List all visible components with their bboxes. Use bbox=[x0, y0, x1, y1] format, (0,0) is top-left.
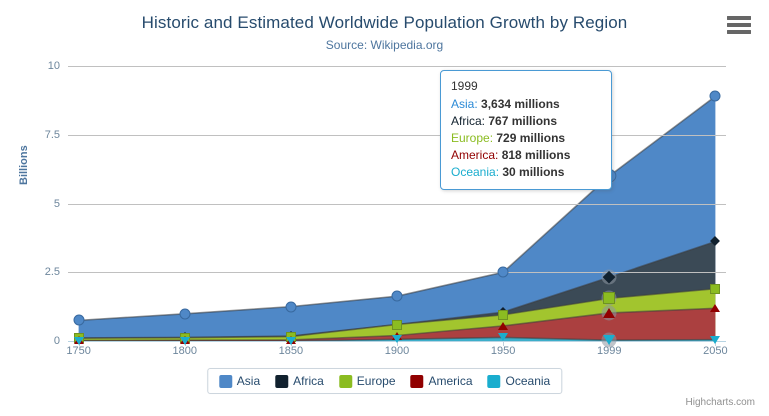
y-axis-title: Billions bbox=[18, 145, 30, 185]
legend-swatch-africa bbox=[275, 375, 288, 388]
chart-subtitle: Source: Wikipedia.org bbox=[0, 38, 769, 52]
hamburger-bar bbox=[727, 23, 751, 27]
x-axis-tick-label[interactable]: 1800 bbox=[172, 345, 196, 357]
y-axis-tick-label: 0 bbox=[26, 335, 60, 347]
legend-swatch-europe bbox=[339, 375, 352, 388]
x-axis-tick-label[interactable]: 1750 bbox=[66, 345, 90, 357]
hamburger-bar bbox=[727, 30, 751, 34]
data-point-europe-1950[interactable] bbox=[498, 310, 508, 320]
y-axis-tick-label: 5 bbox=[26, 198, 60, 210]
data-point-america-1950[interactable] bbox=[498, 322, 508, 330]
tooltip-row-asia: Asia: 3,634 millions bbox=[451, 96, 602, 113]
tooltip-series-name: Africa: bbox=[451, 114, 488, 128]
y-axis-tick-label: 10 bbox=[26, 60, 60, 72]
y-axis-tick-label: 7.5 bbox=[26, 129, 60, 141]
highcharts-container: Historic and Estimated Worldwide Populat… bbox=[0, 0, 769, 416]
chart-title: Historic and Estimated Worldwide Populat… bbox=[0, 13, 769, 33]
legend-swatch-america bbox=[411, 375, 424, 388]
data-point-asia-2050[interactable] bbox=[710, 91, 721, 102]
legend-label: Oceania bbox=[506, 374, 551, 388]
legend-label: Africa bbox=[293, 374, 324, 388]
data-point-oceania-1900[interactable] bbox=[392, 335, 402, 343]
y-gridline bbox=[68, 204, 726, 205]
tooltip-series-name: America: bbox=[451, 148, 502, 162]
y-axis-tick-label: 2.5 bbox=[26, 266, 60, 278]
legend-swatch-asia bbox=[219, 375, 232, 388]
data-point-asia-1750[interactable] bbox=[73, 315, 84, 326]
tooltip-series-value: 729 millions bbox=[496, 131, 565, 145]
legend-item-america[interactable]: America bbox=[411, 374, 473, 388]
y-gridline bbox=[68, 66, 726, 67]
data-point-america-1999[interactable] bbox=[603, 308, 615, 318]
legend-item-oceania[interactable]: Oceania bbox=[488, 374, 551, 388]
data-point-oceania-1800[interactable] bbox=[180, 337, 190, 345]
data-point-oceania-2050[interactable] bbox=[710, 336, 720, 344]
tooltip-series-name: Europe: bbox=[451, 131, 496, 145]
x-axis-tick-label[interactable]: 1900 bbox=[385, 345, 409, 357]
hamburger-menu-icon[interactable] bbox=[727, 16, 751, 34]
data-point-asia-1950[interactable] bbox=[498, 267, 509, 278]
chart-legend[interactable]: AsiaAfricaEuropeAmericaOceania bbox=[207, 368, 562, 394]
y-gridline bbox=[68, 135, 726, 136]
data-point-asia-1800[interactable] bbox=[179, 308, 190, 319]
tooltip-row-oceania: Oceania: 30 millions bbox=[451, 164, 602, 181]
x-axis-tick-label[interactable]: 1950 bbox=[491, 345, 515, 357]
legend-swatch-oceania bbox=[488, 375, 501, 388]
data-point-oceania-1999[interactable] bbox=[603, 335, 615, 345]
tooltip-row-africa: Africa: 767 millions bbox=[451, 113, 602, 130]
data-point-europe-1999[interactable] bbox=[603, 292, 615, 304]
data-point-europe-1900[interactable] bbox=[392, 320, 402, 330]
y-gridline bbox=[68, 272, 726, 273]
data-point-europe-2050[interactable] bbox=[710, 284, 720, 294]
tooltip-series-value: 818 millions bbox=[502, 148, 571, 162]
legend-label: Europe bbox=[357, 374, 396, 388]
data-point-asia-1850[interactable] bbox=[285, 301, 296, 312]
legend-item-asia[interactable]: Asia bbox=[219, 374, 260, 388]
tooltip-series-name: Oceania: bbox=[451, 165, 502, 179]
tooltip-series-value: 767 millions bbox=[488, 114, 557, 128]
data-point-oceania-1750[interactable] bbox=[74, 337, 84, 345]
tooltip-header: 1999 bbox=[451, 78, 602, 95]
data-point-oceania-1950[interactable] bbox=[498, 333, 508, 341]
tooltip-row-europe: Europe: 729 millions bbox=[451, 130, 602, 147]
tooltip-series-value: 3,634 millions bbox=[481, 97, 560, 111]
hamburger-bar bbox=[727, 16, 751, 20]
data-point-america-2050[interactable] bbox=[710, 304, 720, 312]
legend-item-africa[interactable]: Africa bbox=[275, 374, 324, 388]
x-axis-tick-label[interactable]: 1850 bbox=[279, 345, 303, 357]
tooltip-row-america: America: 818 millions bbox=[451, 147, 602, 164]
data-point-asia-1900[interactable] bbox=[392, 291, 403, 302]
tooltip-series-value: 30 millions bbox=[502, 165, 564, 179]
legend-item-europe[interactable]: Europe bbox=[339, 374, 396, 388]
legend-label: America bbox=[429, 374, 473, 388]
series-tooltip: 1999 Asia: 3,634 millionsAfrica: 767 mil… bbox=[440, 70, 612, 190]
tooltip-series-name: Asia: bbox=[451, 97, 481, 111]
legend-label: Asia bbox=[237, 374, 260, 388]
highcharts-credit[interactable]: Highcharts.com bbox=[686, 397, 755, 408]
data-point-oceania-1850[interactable] bbox=[286, 337, 296, 345]
x-axis-tick-label[interactable]: 2050 bbox=[703, 345, 727, 357]
